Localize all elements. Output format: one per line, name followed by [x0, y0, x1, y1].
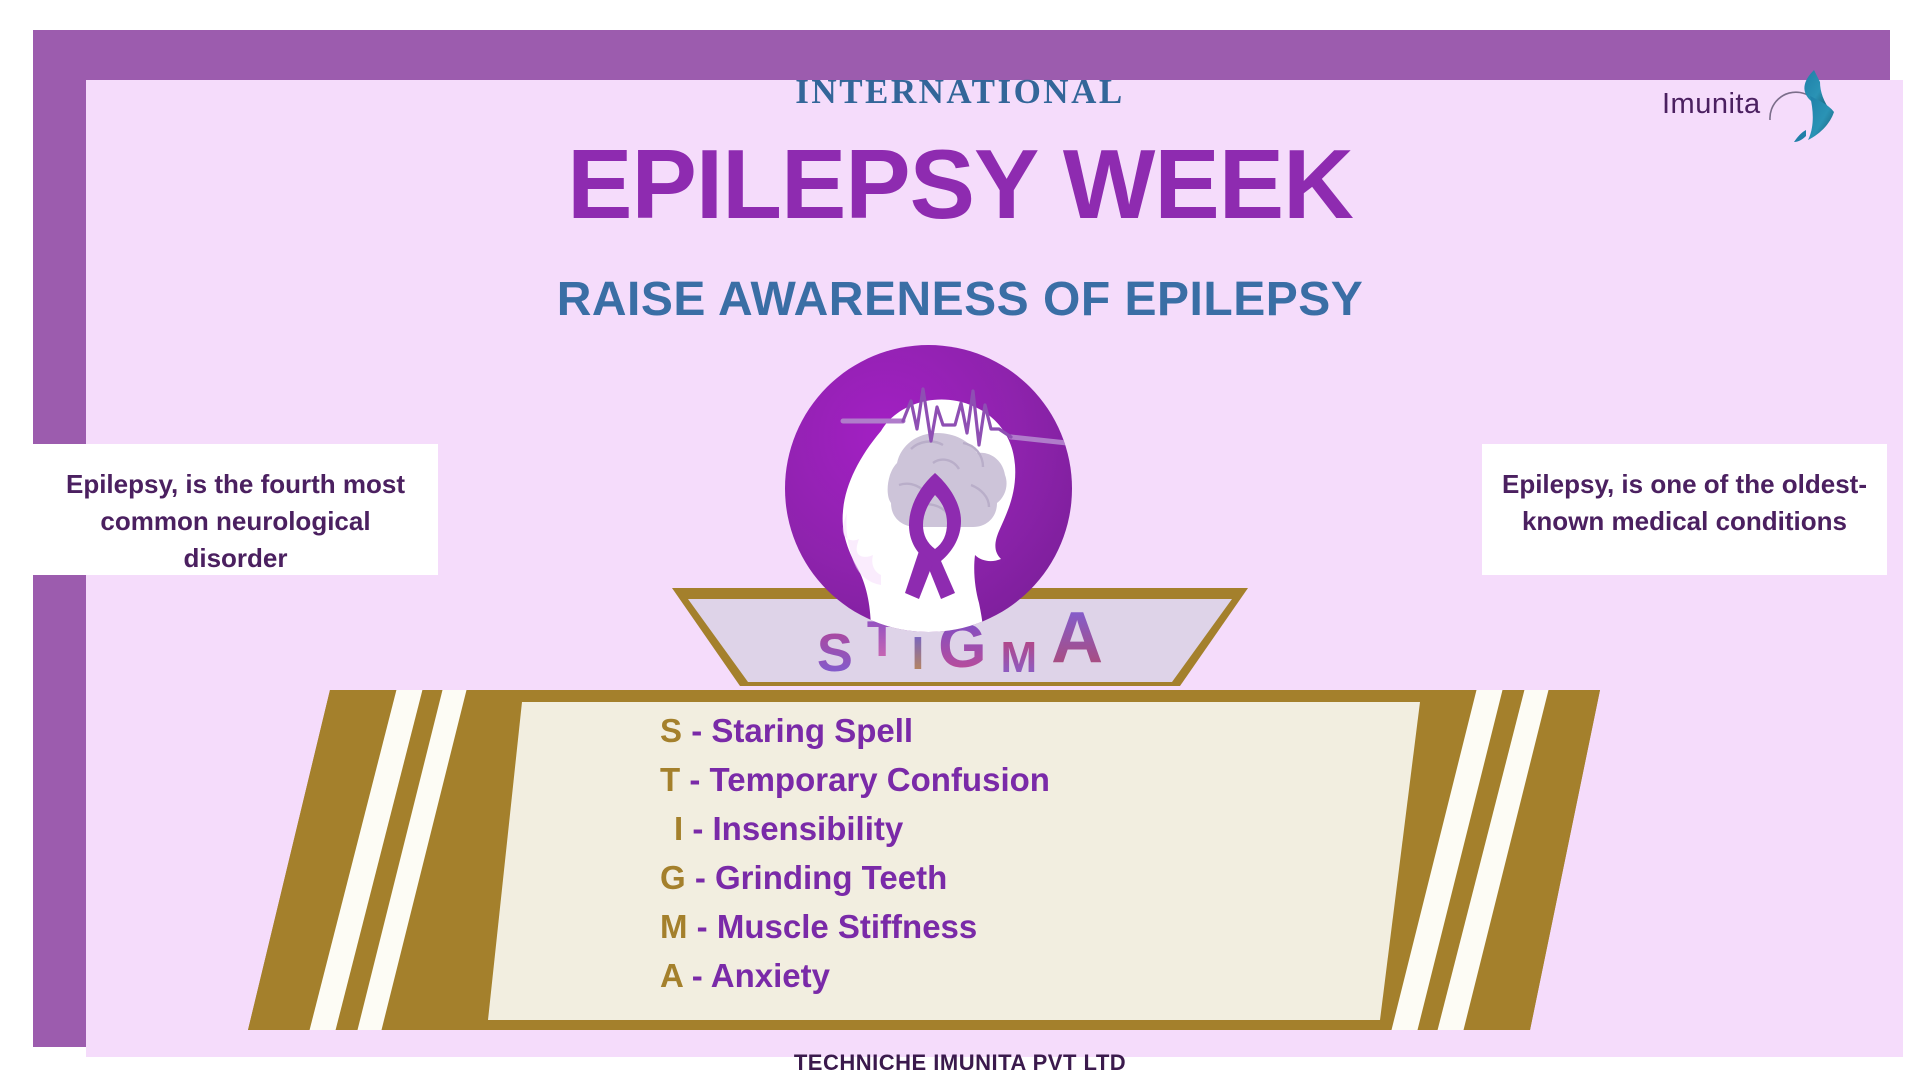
symptom-list: S - Staring Spell T - Temporary Confusio… — [660, 706, 1300, 1000]
symptom-word: Muscle Stiffness — [717, 908, 977, 945]
symptom-word: Staring Spell — [711, 712, 913, 749]
list-item: T - Temporary Confusion — [660, 755, 1300, 804]
stigma-letter-i: I — [911, 630, 924, 676]
fact-box-right: Epilepsy, is one of the oldest-known med… — [1482, 444, 1887, 575]
symptom-dash: - — [689, 761, 700, 798]
symptom-dash: - — [692, 957, 703, 994]
symptom-dash: - — [697, 908, 708, 945]
symptom-word: Insensibility — [713, 810, 904, 847]
stigma-letter-s: S — [817, 626, 853, 680]
imunita-logo[interactable]: Imunita — [1662, 62, 1842, 148]
symptom-letter: A — [660, 957, 683, 994]
list-item: A - Anxiety — [660, 951, 1300, 1000]
page-subtitle: RAISE AWARENESS OF EPILEPSY — [0, 272, 1920, 327]
footer-company-name: TECHNICHE IMUNITA PVT LTD — [0, 1050, 1920, 1076]
fact-box-left: Epilepsy, is the fourth most common neur… — [33, 444, 438, 575]
list-item: M - Muscle Stiffness — [660, 902, 1300, 951]
symptom-word: Anxiety — [711, 957, 830, 994]
symptom-letter: I — [674, 810, 683, 847]
symptom-letter: G — [660, 859, 686, 896]
symptom-letter: T — [660, 761, 680, 798]
poster-canvas: INTERNATIONAL EPILEPSY WEEK RAISE AWAREN… — [0, 0, 1920, 1080]
symptom-dash: - — [695, 859, 706, 896]
page-title: EPILEPSY WEEK — [0, 135, 1920, 233]
symptom-word: Temporary Confusion — [710, 761, 1050, 798]
list-item: I - Insensibility — [660, 804, 1300, 853]
head-brain-eeg-ribbon-icon — [785, 345, 1072, 632]
list-item: G - Grinding Teeth — [660, 853, 1300, 902]
symptom-dash: - — [691, 712, 702, 749]
symptom-word: Grinding Teeth — [715, 859, 947, 896]
symptom-dash: - — [692, 810, 703, 847]
logo-wordmark: Imunita — [1662, 88, 1761, 121]
symptom-letter: S — [660, 712, 682, 749]
bird-logo-icon — [1758, 62, 1844, 148]
kicker-international: INTERNATIONAL — [0, 72, 1920, 112]
symptom-letter: M — [660, 908, 688, 945]
list-item: S - Staring Spell — [660, 706, 1300, 755]
stigma-letter-m: M — [1000, 636, 1037, 680]
